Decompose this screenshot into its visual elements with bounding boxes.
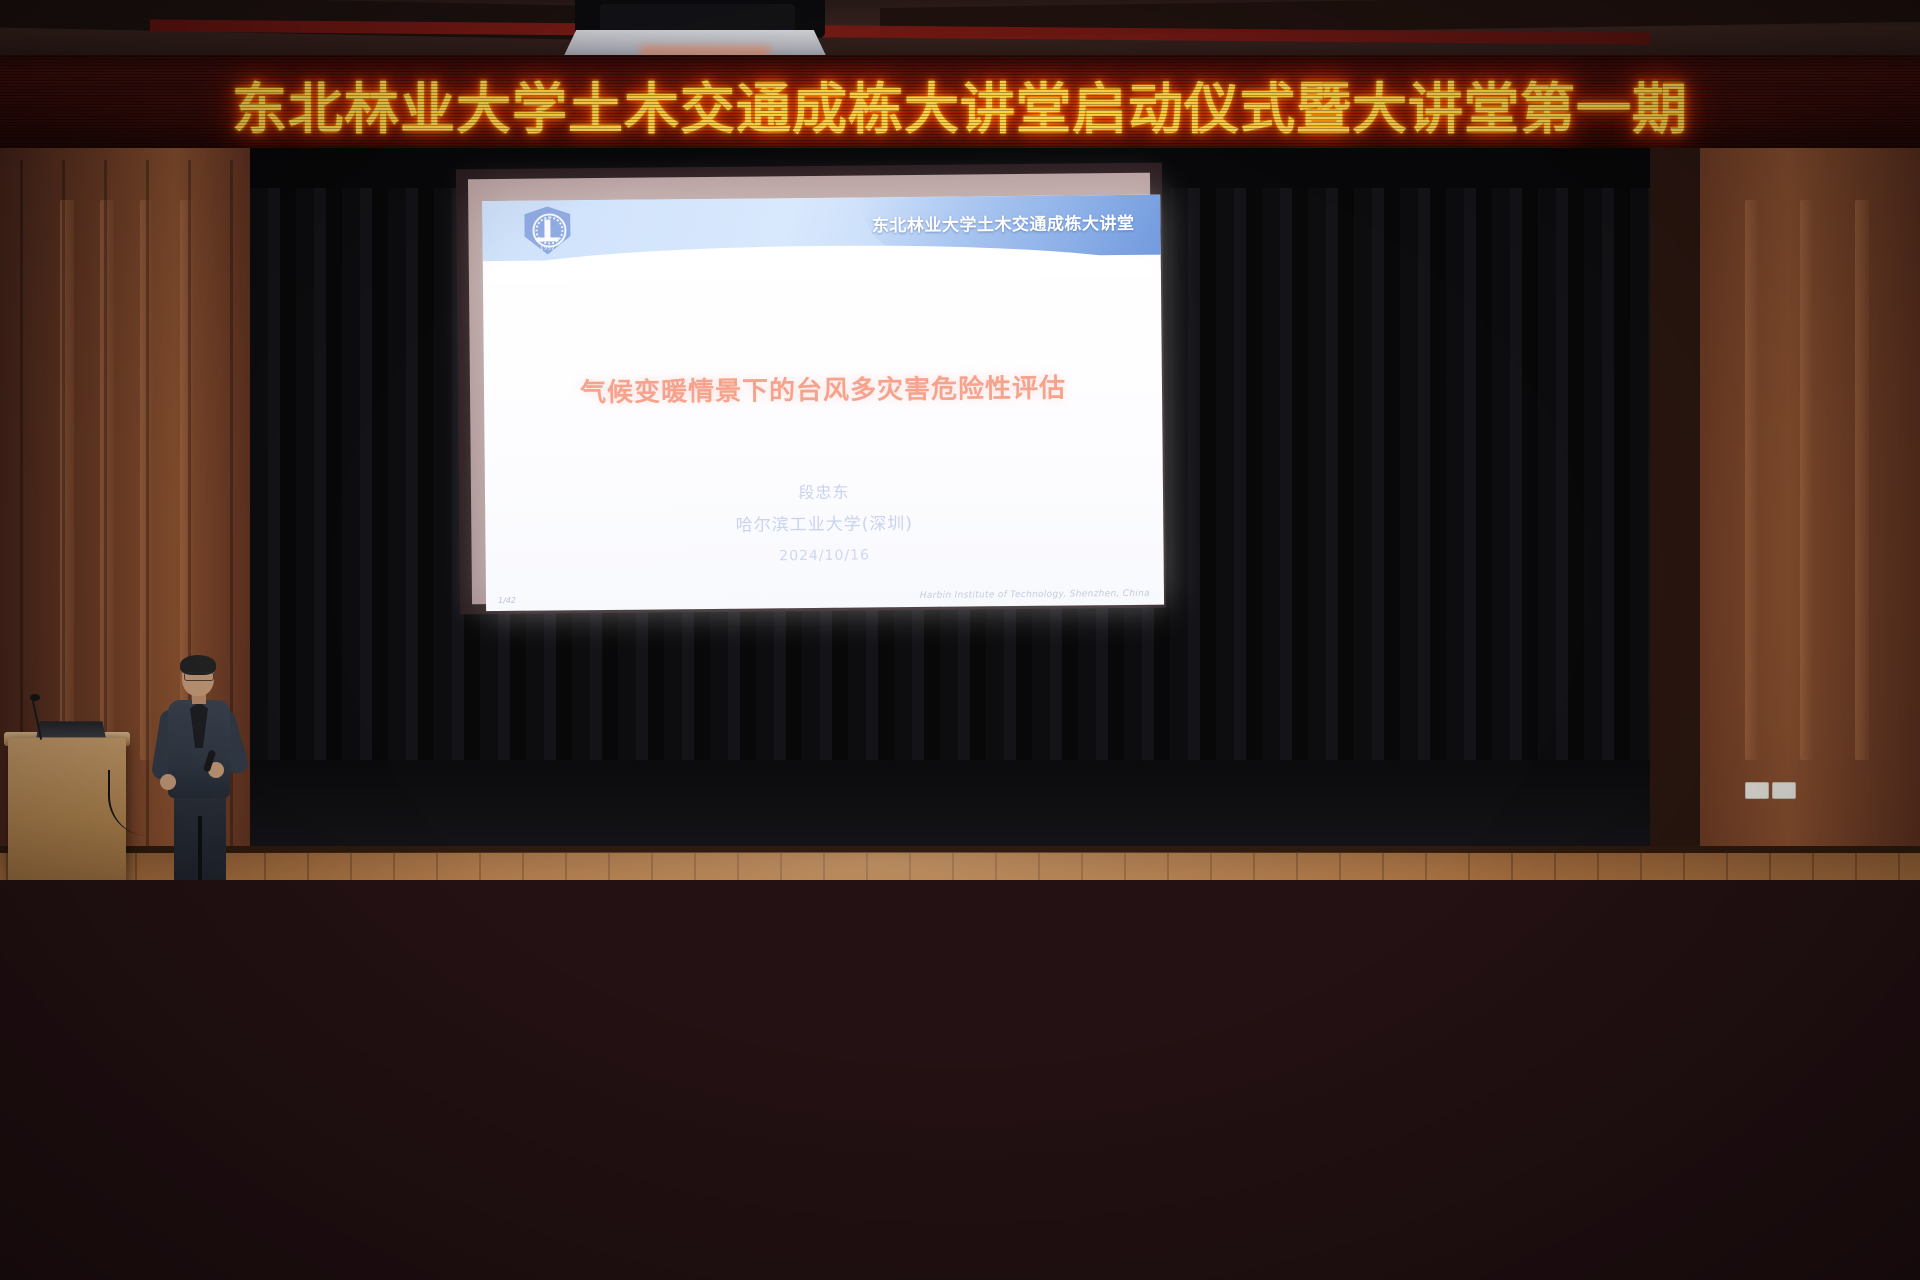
podium-laptop <box>36 721 106 737</box>
speaker-glasses-icon <box>184 672 214 681</box>
logo-year-text: 1952 <box>535 245 561 251</box>
wall-slat <box>1855 200 1869 760</box>
screen-mat: 1952 东北林业大学土木交通成栋大讲堂 气候变暖情景下的台风多灾害危险性评估 … <box>468 173 1154 605</box>
lecture-hall-scene: 东北林业大学土木交通成栋大讲堂启动仪式暨大讲堂第一期 1 <box>0 0 1920 1280</box>
led-banner: 东北林业大学土木交通成栋大讲堂启动仪式暨大讲堂第一期 <box>0 55 1920 153</box>
slide-footer-text: Harbin Institute of Technology, Shenzhen… <box>920 589 1150 601</box>
projection-screen: 1952 东北林业大学土木交通成栋大讲堂 气候变暖情景下的台风多灾害危险性评估 … <box>456 163 1166 615</box>
slide-header-band: 1952 东北林业大学土木交通成栋大讲堂 <box>482 195 1161 262</box>
slide-author: 段忠东 <box>485 476 1163 507</box>
slide-date: 2024/10/16 <box>486 545 1164 568</box>
microphone-icon <box>30 694 40 701</box>
led-banner-text: 东北林业大学土木交通成栋大讲堂启动仪式暨大讲堂第一期 <box>0 64 1920 144</box>
wall-slat <box>1800 200 1814 760</box>
slide-main-title: 气候变暖情景下的台风多灾害危险性评估 <box>484 367 1162 411</box>
university-logo-icon: 1952 <box>524 206 570 254</box>
audience-seating-area: 王 鹏丁李晓东段忠东刘文辉孙维 <box>0 880 1920 1280</box>
wall-outlet-1 <box>1745 782 1769 799</box>
projector-body <box>600 4 795 32</box>
slide-affiliation: 哈尔滨工业大学(深圳) <box>485 507 1163 539</box>
presentation-slide: 1952 东北林业大学土木交通成栋大讲堂 气候变暖情景下的台风多灾害危险性评估 … <box>482 195 1164 611</box>
logo-base-shape <box>537 237 559 241</box>
led-banner-glow <box>0 55 1920 153</box>
wall-outlet-2 <box>1772 782 1796 799</box>
wall-slat <box>100 200 114 760</box>
slide-page-number: 1/42 <box>498 596 516 605</box>
slide-header-title: 东北林业大学土木交通成栋大讲堂 <box>872 209 1135 237</box>
curtain-hem <box>250 760 1650 850</box>
wall-slat <box>1745 200 1759 760</box>
